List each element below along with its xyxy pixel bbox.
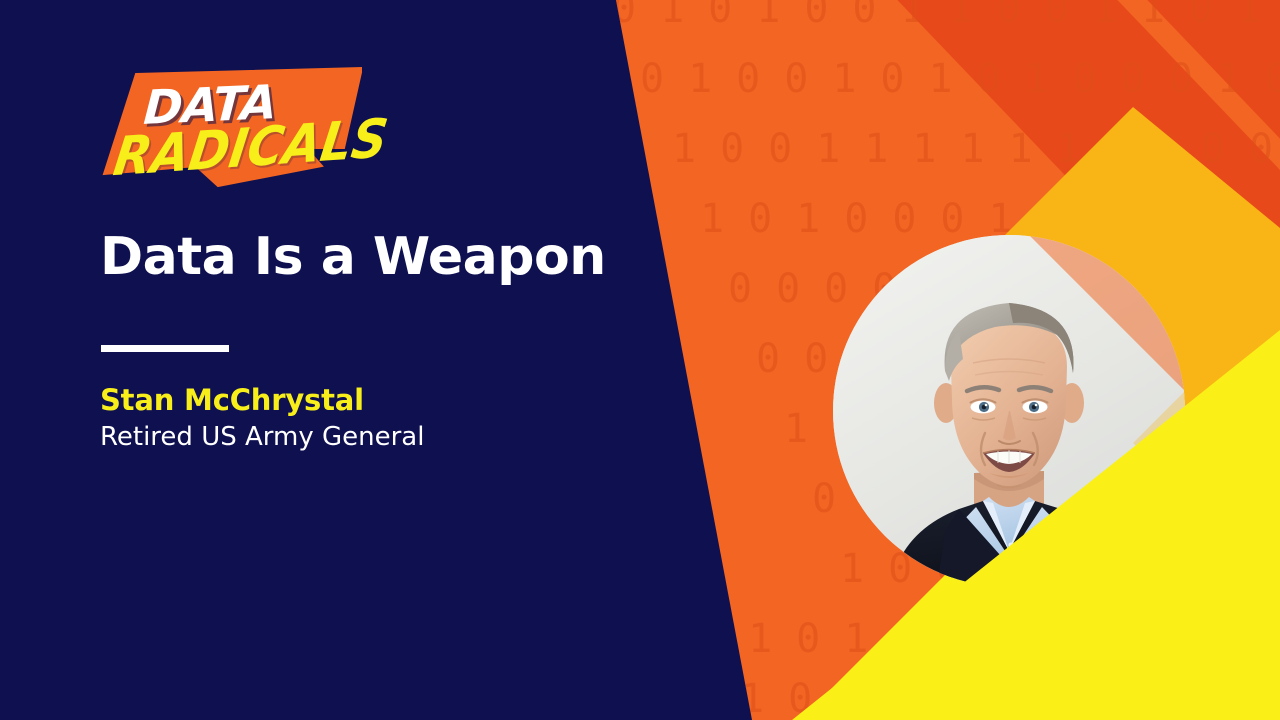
guest-role: Retired US Army General [100, 422, 424, 452]
episode-cover-poster: 0101001100110101101 01001010100010110001… [0, 0, 1280, 720]
guest-portrait [833, 235, 1185, 587]
title-divider [101, 345, 229, 352]
guest-name: Stan McChrystal [100, 383, 364, 417]
data-radicals-logo[interactable]: DATA RADICALS [100, 62, 362, 202]
episode-title: Data Is a Weapon [100, 228, 660, 286]
